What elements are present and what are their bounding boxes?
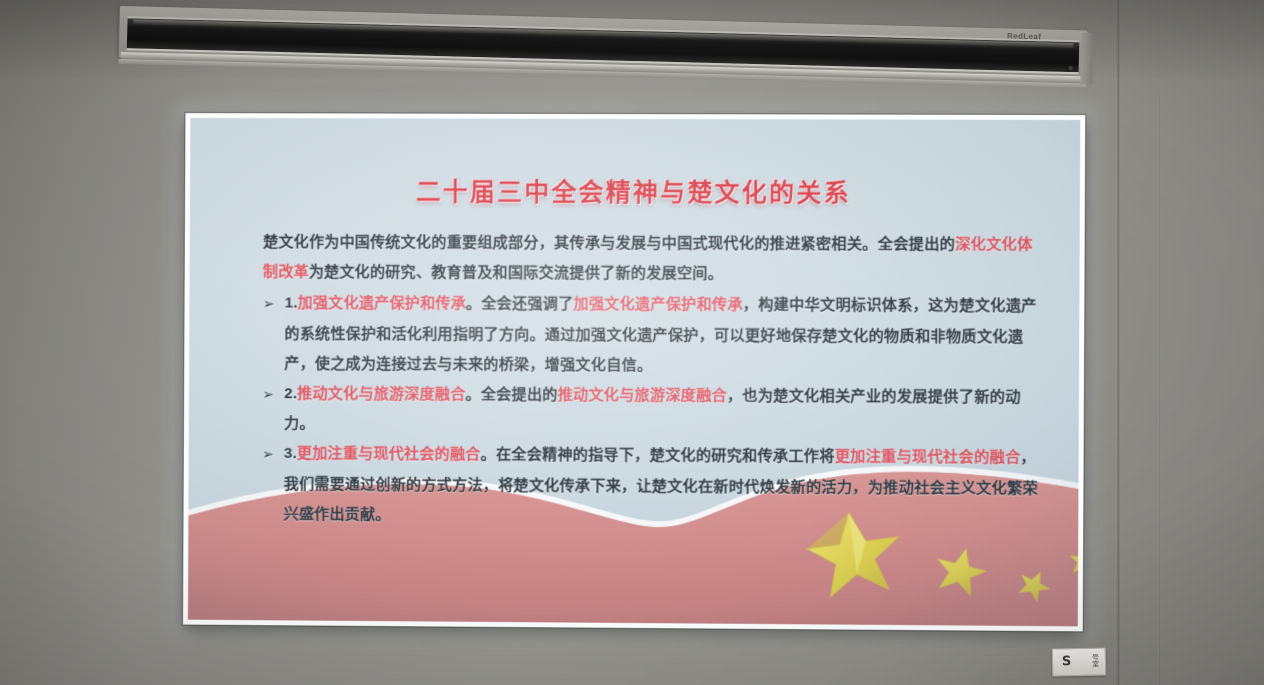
list-item: ➢2.推动文化与旅游深度融合。全会提出的推动文化与旅游深度融合，也为楚文化相关产… [262,379,1045,444]
item-text-before: 在全会精神的指导下，楚文化的研究和传承工作将 [496,447,835,466]
item-sep: 。 [481,447,496,464]
item-sep: 。 [466,296,481,313]
bullet-marker-icon: ➢ [262,379,274,409]
item-number: 1. [285,295,298,312]
item-sep: 。 [466,386,481,403]
list-item: ➢1.加强文化遗产保护和传承。全会还强调了加强文化遗产保护和传承，构建中华文明标… [262,289,1045,383]
brand-logo-label: RedLeaf [1007,31,1042,41]
intro-paragraph: 楚文化作为中国传统文化的重要组成部分，其传承与发展与中国式现代化的推进紧密相关。… [263,228,1046,291]
item-highlight: 更加注重与现代社会的融合 [835,449,1021,467]
sticker-sub-text: 号室 [1092,655,1099,669]
item-highlight: 推动文化与旅游深度融合 [558,387,727,405]
item-text-before: 全会提出的 [481,386,558,403]
slide-canvas: 二十届三中全会精神与楚文化的关系 楚文化作为中国传统文化的重要组成部分，其传承与… [188,118,1080,626]
bullet-marker-icon: ➢ [263,289,275,319]
wall-seam-line [1117,0,1120,685]
wall-room-label: S 号室 [1052,648,1106,677]
intro-part1: 楚文化作为中国传统文化的重要组成部分，其传承与发展与中国式现代化的推进紧密相关。… [263,234,955,253]
slide-title: 二十届三中全会精神与楚文化的关系 [190,172,1080,211]
housing-end-cap [1080,32,1093,84]
item-number: 2. [284,385,297,402]
sticker-glyph: S [1062,654,1072,669]
slide-body: 楚文化作为中国传统文化的重要组成部分，其传承与发展与中国式现代化的推进紧密相关。… [262,228,1046,535]
item-heading: 加强文化遗产保护和传承 [298,295,466,313]
intro-part2: 为楚文化的研究、教育普及和国际交流提供了新的发展空间。 [309,264,723,283]
projected-slide: 二十届三中全会精神与楚文化的关系 楚文化作为中国传统文化的重要组成部分，其传承与… [183,113,1085,633]
item-heading: 推动文化与旅游深度融合 [297,385,465,403]
item-text-before: 全会还强调了 [481,296,573,313]
item-heading: 更加注重与现代社会的融合 [297,446,481,464]
item-number: 3. [284,445,297,462]
list-item: ➢3.更加注重与现代社会的融合。在全会精神的指导下，楚文化的研究和传承工作将更加… [262,439,1045,534]
housing-screw-dot [1069,66,1073,70]
photo-scene: RedLeaf [0,0,1264,685]
slide-white-border: 二十届三中全会精神与楚文化的关系 楚文化作为中国传统文化的重要组成部分，其传承与… [183,113,1085,631]
wall-seam-line-secondary [1158,96,1160,685]
bullet-marker-icon: ➢ [262,439,274,469]
item-highlight: 加强文化遗产保护和传承 [573,296,742,314]
